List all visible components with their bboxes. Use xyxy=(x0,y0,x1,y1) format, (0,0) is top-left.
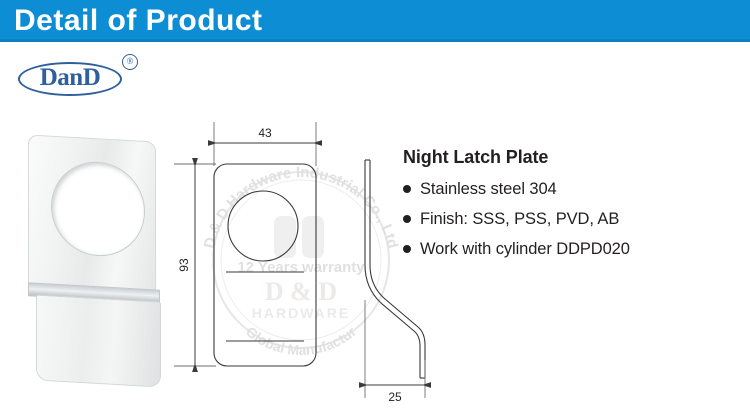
spec-item-finish: Finish: SSS, PSS, PVD, AB xyxy=(403,210,743,229)
dim-25-label: 25 xyxy=(388,390,402,404)
bullet-dot-icon xyxy=(403,185,411,193)
spec-text: Work with cylinder DDPD020 xyxy=(420,240,630,259)
product-info-block: Night Latch Plate Stainless steel 304 Fi… xyxy=(403,147,743,270)
bullet-dot-icon xyxy=(403,245,411,253)
spec-text: Finish: SSS, PSS, PVD, AB xyxy=(420,210,619,229)
spec-item-material: Stainless steel 304 xyxy=(403,180,743,199)
dim-43-label: 43 xyxy=(258,126,272,140)
spec-item-compatibility: Work with cylinder DDPD020 xyxy=(403,240,743,259)
product-title: Night Latch Plate xyxy=(403,147,743,168)
spec-text: Stainless steel 304 xyxy=(420,180,557,199)
dim-93-label: 93 xyxy=(177,258,191,272)
product-detail-page: Detail of Product DanD ® D & D Hardware … xyxy=(0,0,750,409)
front-view-cylinder-hole xyxy=(228,191,298,261)
bullet-dot-icon xyxy=(403,215,411,223)
front-view-plate-outline xyxy=(214,164,316,366)
